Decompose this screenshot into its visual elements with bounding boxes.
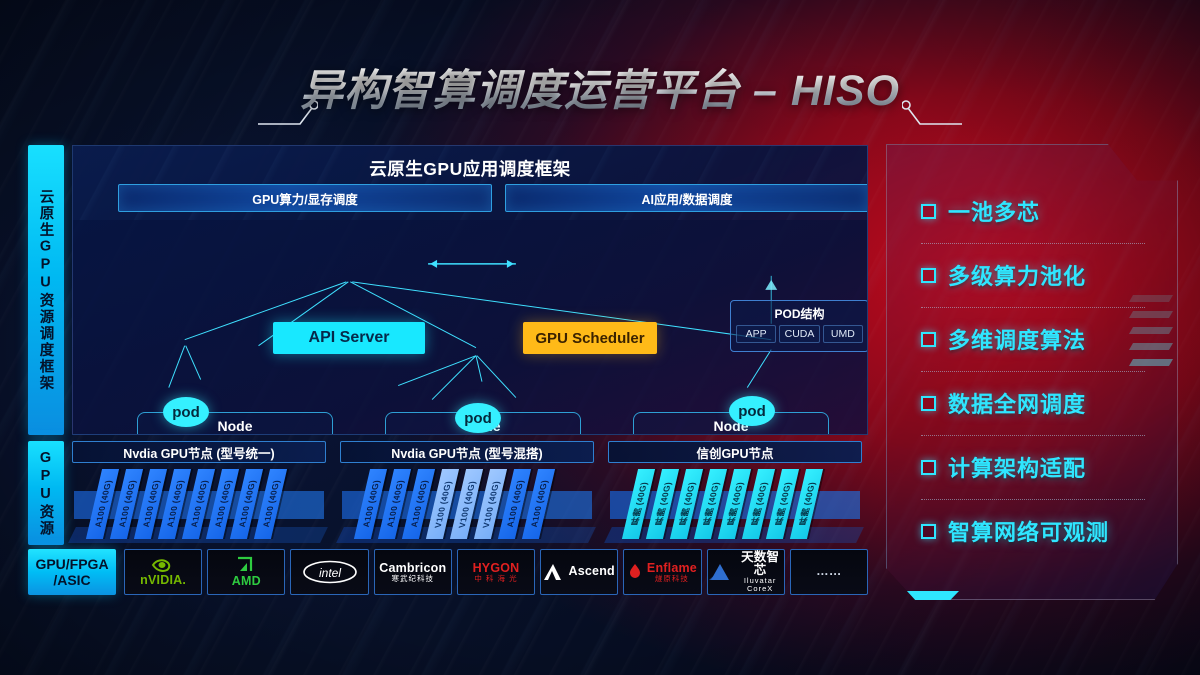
gpu-card-label: A100 (40G) (384, 480, 405, 527)
iluvatar-icon (708, 563, 732, 581)
gpu-card-label: A100 (40G) (212, 480, 233, 527)
framework-bar-gpu-scheduling[interactable]: GPU算力/显存调度 (118, 184, 492, 212)
feature-panel: 一池多芯多级算力池化多维调度算法数据全网调度计算架构适配智算网络可观测 (886, 144, 1178, 600)
ascend-icon (544, 563, 564, 581)
feature-item-label: 多级算力池化 (948, 259, 1086, 291)
square-bullet-icon (921, 204, 936, 219)
feature-item-label: 计算架构适配 (948, 451, 1086, 483)
svg-text:intel: intel (319, 566, 341, 580)
vendor-subname: 中 科 海 光 (473, 575, 520, 583)
gpu-group-title: Nvdia GPU节点 (型号统一) (72, 441, 326, 463)
feature-list: 一池多芯多级算力池化多维调度算法数据全网调度计算架构适配智算网络可观测 (921, 179, 1159, 563)
gpu-card-label: A100 (40G) (260, 480, 281, 527)
gpu-card-label: A100 (40G) (236, 480, 257, 527)
gpu-card-label: A100 (40G) (528, 480, 549, 527)
gpu-group-title: Nvdia GPU节点 (型号混搭) (340, 441, 594, 463)
gpu-card-label: 昇腾 (40G) (795, 482, 817, 526)
amd-logo[interactable]: AMD (207, 549, 285, 595)
slide-canvas: 异构智算调度运营平台 – HISO 云原生GPU资源调度框架 GPU资源 GPU… (0, 0, 1200, 675)
cambricon-logo[interactable]: Cambricon寒武纪科技 (374, 549, 452, 595)
feature-item[interactable]: 多维调度算法 (921, 307, 1159, 371)
gpu-card-label: A100 (40G) (504, 480, 525, 527)
gpu-card-label: 昇腾 (40G) (747, 482, 769, 526)
vendor-name: Ascend (569, 565, 615, 578)
square-bullet-icon (921, 268, 936, 283)
pod-ellipse[interactable]: pod (455, 403, 501, 433)
gpu-card-label: 昇腾 (40G) (651, 482, 673, 526)
framework-heading: 云原生GPU应用调度框架 (73, 156, 867, 181)
gpu-group: 信创GPU节点 昇腾 (40G)昇腾 (40G)昇腾 (40G)昇腾 (40G)… (608, 441, 862, 545)
gpu-card-label: A100 (40G) (188, 480, 209, 527)
feature-item-label: 多维调度算法 (948, 323, 1086, 355)
pod-structure-cells: APP CUDA UMD (731, 322, 868, 343)
pod-ellipse[interactable]: pod (729, 396, 775, 426)
feature-item[interactable]: 计算架构适配 (921, 435, 1159, 499)
vendor-name: HYGON (473, 562, 520, 575)
vendor-subname: 燧原科技 (647, 575, 697, 583)
vendor-name: AMD (232, 575, 261, 588)
enflame-icon (628, 563, 642, 581)
vendor-label: HYGON中 科 海 光 (473, 562, 520, 583)
gpu-card-label: 昇腾 (40G) (723, 482, 745, 526)
vendor-label: Enflame燧原科技 (647, 562, 697, 583)
more-logo[interactable]: …… (790, 549, 868, 595)
pod-ellipse[interactable]: pod (163, 397, 209, 427)
feature-item[interactable]: 多级算力池化 (921, 243, 1159, 307)
side-label-framework: 云原生GPU资源调度框架 (28, 145, 64, 435)
enflame-logo[interactable]: Enflame燧原科技 (623, 549, 701, 595)
api-server-box[interactable]: API Server (273, 322, 425, 354)
square-bullet-icon (921, 332, 936, 347)
vendor-logo-row: nVIDIA.AMDintelCambricon寒武纪科技HYGON中 科 海 … (124, 549, 868, 595)
cloud-native-framework-panel: 云原生GPU应用调度框架 GPU算力/显存调度 AI应用/数据调度 (72, 145, 868, 435)
vendor-name: Enflame (647, 562, 697, 575)
vendor-label: AMD (232, 575, 261, 588)
framework-bar-ai-scheduling[interactable]: AI应用/数据调度 (505, 184, 868, 212)
feature-item[interactable]: 一池多芯 (921, 179, 1159, 243)
square-bullet-icon (921, 460, 936, 475)
vendor-label: nVIDIA. (140, 574, 186, 587)
square-bullet-icon (921, 524, 936, 539)
gpu-card-label: V100 (40G) (480, 481, 501, 528)
pod-cell-app: APP (736, 325, 776, 343)
nvidia-logo[interactable]: nVIDIA. (124, 549, 202, 595)
hygon-logo[interactable]: HYGON中 科 海 光 (457, 549, 535, 595)
gpu-group: Nvdia GPU节点 (型号统一) A100 (40G)A100 (40G)A… (72, 441, 326, 545)
amd-icon (236, 556, 256, 574)
gpu-card-label: 昇腾 (40G) (675, 482, 697, 526)
side-label-gpu-resource: GPU资源 (28, 441, 64, 545)
square-bullet-icon (921, 396, 936, 411)
feature-item-label: 一池多芯 (948, 195, 1040, 227)
feature-item[interactable]: 数据全网调度 (921, 371, 1159, 435)
intel-logo[interactable]: intel (290, 549, 368, 595)
vendor-label: 天数智芯Iluvatar CoreX (737, 551, 784, 593)
gpu-resource-area: Nvdia GPU节点 (型号统一) A100 (40G)A100 (40G)A… (72, 441, 868, 545)
vendor-subname: Iluvatar CoreX (737, 577, 784, 593)
gpu-card-label: V100 (40G) (432, 481, 453, 528)
vendor-name: 天数智芯 (737, 551, 784, 577)
pod-cell-cuda: CUDA (779, 325, 819, 343)
intel-icon: intel (302, 560, 358, 584)
vendor-name: nVIDIA. (140, 574, 186, 587)
gpu-group: Nvdia GPU节点 (型号混搭) A100 (40G)A100 (40G)A… (340, 441, 594, 545)
pod-structure-title: POD结构 (731, 305, 868, 322)
vendor-name: …… (816, 565, 841, 578)
title-ornament-right (902, 98, 962, 128)
gpu-card-label: 昇腾 (40G) (699, 482, 721, 526)
gpu-scheduler-box[interactable]: GPU Scheduler (523, 322, 657, 354)
gpu-group-body: A100 (40G)A100 (40G)A100 (40G)V100 (40G)… (340, 465, 594, 545)
gpu-group-body: A100 (40G)A100 (40G)A100 (40G)A100 (40G)… (72, 465, 326, 545)
gpu-group-body: 昇腾 (40G)昇腾 (40G)昇腾 (40G)昇腾 (40G)昇腾 (40G)… (608, 465, 862, 545)
gpu-card-label: A100 (40G) (408, 480, 429, 527)
vendor-label: …… (816, 565, 841, 578)
ascend-logo[interactable]: Ascend (540, 549, 618, 595)
gpu-card-label: 昇腾 (40G) (771, 482, 793, 526)
gpu-group-title: 信创GPU节点 (608, 441, 862, 463)
feature-item[interactable]: 智算网络可观测 (921, 499, 1159, 563)
gpu-card-label: A100 (40G) (92, 480, 113, 527)
gpu-card-label: A100 (40G) (360, 480, 381, 527)
gpu-card-label: A100 (40G) (116, 480, 137, 527)
vendor-label: Cambricon寒武纪科技 (379, 562, 446, 583)
nvidia-icon (150, 557, 176, 573)
gpu-card-label: A100 (40G) (140, 480, 161, 527)
gpu-card-label: A100 (40G) (164, 480, 185, 527)
node-label: Node (634, 418, 828, 434)
gpu-card-label: V100 (40G) (456, 481, 477, 528)
side-label-asic: GPU/FPGA/ASIC (28, 549, 116, 595)
gpu-card-label: 昇腾 (40G) (627, 482, 649, 526)
title-bar: 异构智算调度运营平台 – HISO (0, 60, 1200, 136)
architecture-diagram: 云原生GPU资源调度框架 GPU资源 GPU/FPGA/ASIC 云原生GPU应… (28, 145, 868, 600)
pod-cell-umd: UMD (823, 325, 863, 343)
feature-item-label: 数据全网调度 (948, 387, 1086, 419)
feature-item-label: 智算网络可观测 (948, 515, 1109, 547)
iluvatar-logo[interactable]: 天数智芯Iluvatar CoreX (707, 549, 785, 595)
vendor-subname: 寒武纪科技 (379, 575, 446, 583)
framework-inner-area: API Server GPU Scheduler POD结构 APP CUDA … (73, 220, 867, 434)
panel-corner-accent (887, 591, 959, 600)
vendor-name: Cambricon (379, 562, 446, 575)
pod-structure-box: POD结构 APP CUDA UMD (730, 300, 868, 352)
side-label-asic-text: GPU/FPGA/ASIC (35, 556, 108, 588)
vendor-label: Ascend (569, 565, 615, 578)
page-title: 异构智算调度运营平台 – HISO (0, 60, 1200, 122)
